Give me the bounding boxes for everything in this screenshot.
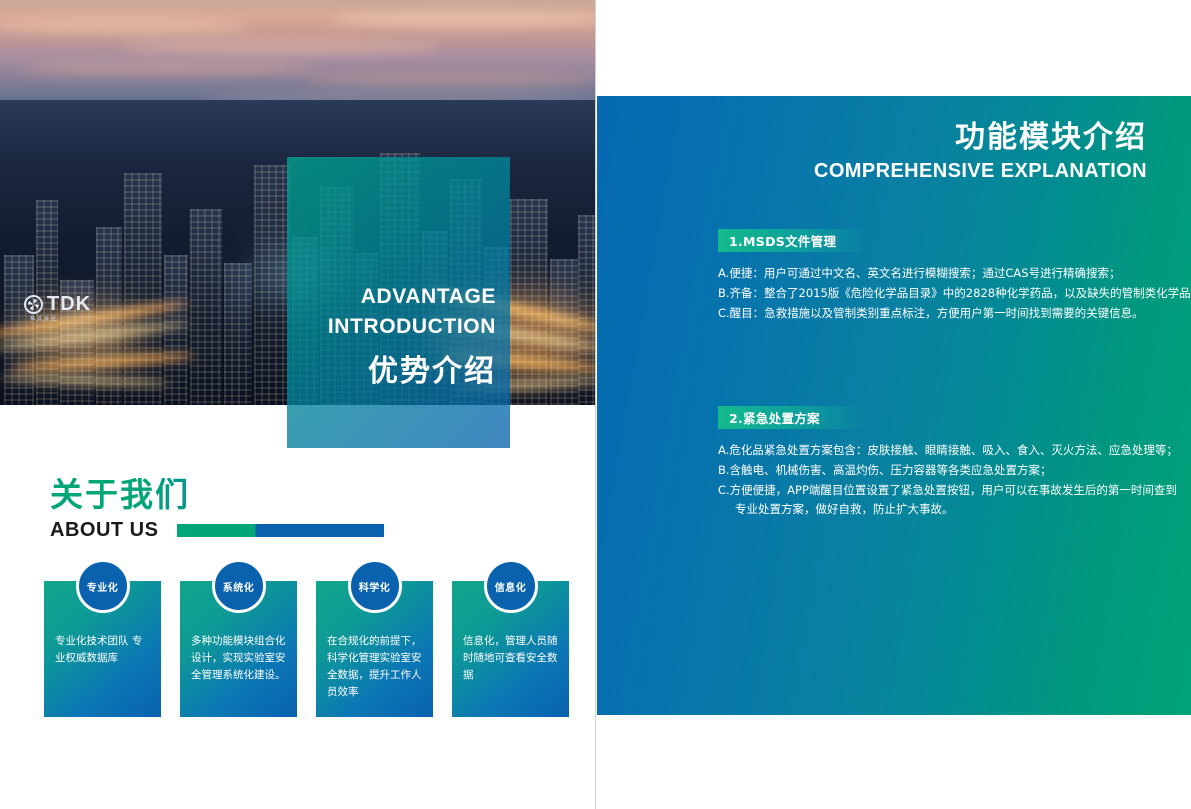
feature-card-body: 专业化技术团队 专业权威数据库 <box>55 633 152 667</box>
about-us-heading: 关于我们 ABOUT US <box>50 478 384 542</box>
tdk-logo: TDK <box>24 294 91 314</box>
advantage-title-en-line1: ADVANTAGE <box>287 282 496 312</box>
module-section-2-line: B.含触电、机械伤害、高温灼伤、压力容器等各类应急处置方案； <box>718 461 1178 481</box>
module-section-2-line: 专业处置方案，做好自救，防止扩大事故。 <box>718 500 1178 520</box>
feature-card-badge: 系统化 <box>212 559 266 613</box>
module-section-2-line: A.危化品紧急处置方案包含：皮肤接触、眼睛接触、吸入、食入、灭火方法、应急处理等… <box>718 441 1178 461</box>
brochure-page: TDK 株式会社 ADVANTAGE INTRODUCTION 优势介绍 关于我… <box>0 0 1191 809</box>
feature-card-body: 多种功能模块组合化设计，实现实验室安全管理系统化建设。 <box>191 633 288 684</box>
feature-card[interactable]: 科学化 在合规化的前提下，科学化管理实验室安全数据，提升工作人员效率 <box>316 581 433 717</box>
right-page-title-block: 功能模块介绍 COMPREHENSIVE EXPLANATION <box>814 120 1147 183</box>
module-section-2-heading-label: 2.紧急处置方案 <box>729 408 820 427</box>
feature-card-badge-label: 信息化 <box>495 579 527 594</box>
module-section-2-body: A.危化品紧急处置方案包含：皮肤接触、眼睛接触、吸入、食入、灭火方法、应急处理等… <box>718 441 1178 520</box>
module-section-1-heading: 1.MSDS文件管理 <box>718 229 866 252</box>
about-us-title-en: ABOUT US <box>50 519 158 542</box>
page-divider <box>595 0 596 809</box>
feature-card[interactable]: 信息化 信息化，管理人员随时随地可查看安全数据 <box>452 581 569 717</box>
advantage-title-en-line2: INTRODUCTION <box>287 312 496 342</box>
module-section-1: 1.MSDS文件管理 A.便捷：用户可通过中文名、英文名进行模糊搜索；通过CAS… <box>718 229 1191 323</box>
feature-card-body: 信息化，管理人员随时随地可查看安全数据 <box>463 633 560 684</box>
right-page-title-en: COMPREHENSIVE EXPLANATION <box>814 160 1147 183</box>
feature-card-list: 专业化 专业化技术团队 专业权威数据库 系统化 多种功能模块组合化设计，实现实验… <box>44 581 569 717</box>
tdk-mark-icon <box>24 295 43 314</box>
right-page-title-cn: 功能模块介绍 <box>814 120 1147 156</box>
advantage-title-cn: 优势介绍 <box>287 346 496 390</box>
module-section-2-heading: 2.紧急处置方案 <box>718 406 866 429</box>
module-section-1-line: A.便捷：用户可通过中文名、英文名进行模糊搜索；通过CAS号进行精确搜索； <box>718 264 1191 284</box>
feature-card[interactable]: 系统化 多种功能模块组合化设计，实现实验室安全管理系统化建设。 <box>180 581 297 717</box>
feature-card-badge-label: 科学化 <box>359 579 391 594</box>
about-us-accent-bar <box>177 524 384 537</box>
feature-card-body: 在合规化的前提下，科学化管理实验室安全数据，提升工作人员效率 <box>327 633 424 701</box>
module-section-1-body: A.便捷：用户可通过中文名、英文名进行模糊搜索；通过CAS号进行精确搜索； B.… <box>718 264 1191 323</box>
tdk-logo-text: TDK <box>47 294 91 314</box>
feature-card-badge: 信息化 <box>484 559 538 613</box>
tdk-logo-subtext: 株式会社 <box>30 315 58 322</box>
module-section-1-heading-label: 1.MSDS文件管理 <box>729 231 836 250</box>
module-section-2: 2.紧急处置方案 A.危化品紧急处置方案包含：皮肤接触、眼睛接触、吸入、食入、灭… <box>718 406 1178 520</box>
feature-card-badge: 科学化 <box>348 559 402 613</box>
right-page-header: 1/2 <box>596 0 1191 96</box>
module-section-2-line: C.方便便捷，APP端醒目位置设置了紧急处置按钮，用户可以在事故发生后的第一时间… <box>718 481 1178 501</box>
module-section-1-line: C.醒目：急救措施以及管制类别重点标注，方便用户第一时间找到需要的关键信息。 <box>718 304 1191 324</box>
about-us-title-cn: 关于我们 <box>50 478 384 511</box>
left-page: TDK 株式会社 ADVANTAGE INTRODUCTION 优势介绍 关于我… <box>0 0 596 809</box>
feature-card-badge-label: 系统化 <box>223 579 255 594</box>
module-section-1-line: B.齐备：整合了2015版《危险化学品目录》中的2828种化学药品，以及缺失的管… <box>718 284 1191 304</box>
advantage-overlay-card: ADVANTAGE INTRODUCTION 优势介绍 <box>287 157 510 448</box>
feature-card-badge-label: 专业化 <box>87 579 119 594</box>
right-page-panel: 功能模块介绍 COMPREHENSIVE EXPLANATION 1.MSDS文… <box>597 96 1191 715</box>
feature-card[interactable]: 专业化 专业化技术团队 专业权威数据库 <box>44 581 161 717</box>
feature-card-badge: 专业化 <box>76 559 130 613</box>
